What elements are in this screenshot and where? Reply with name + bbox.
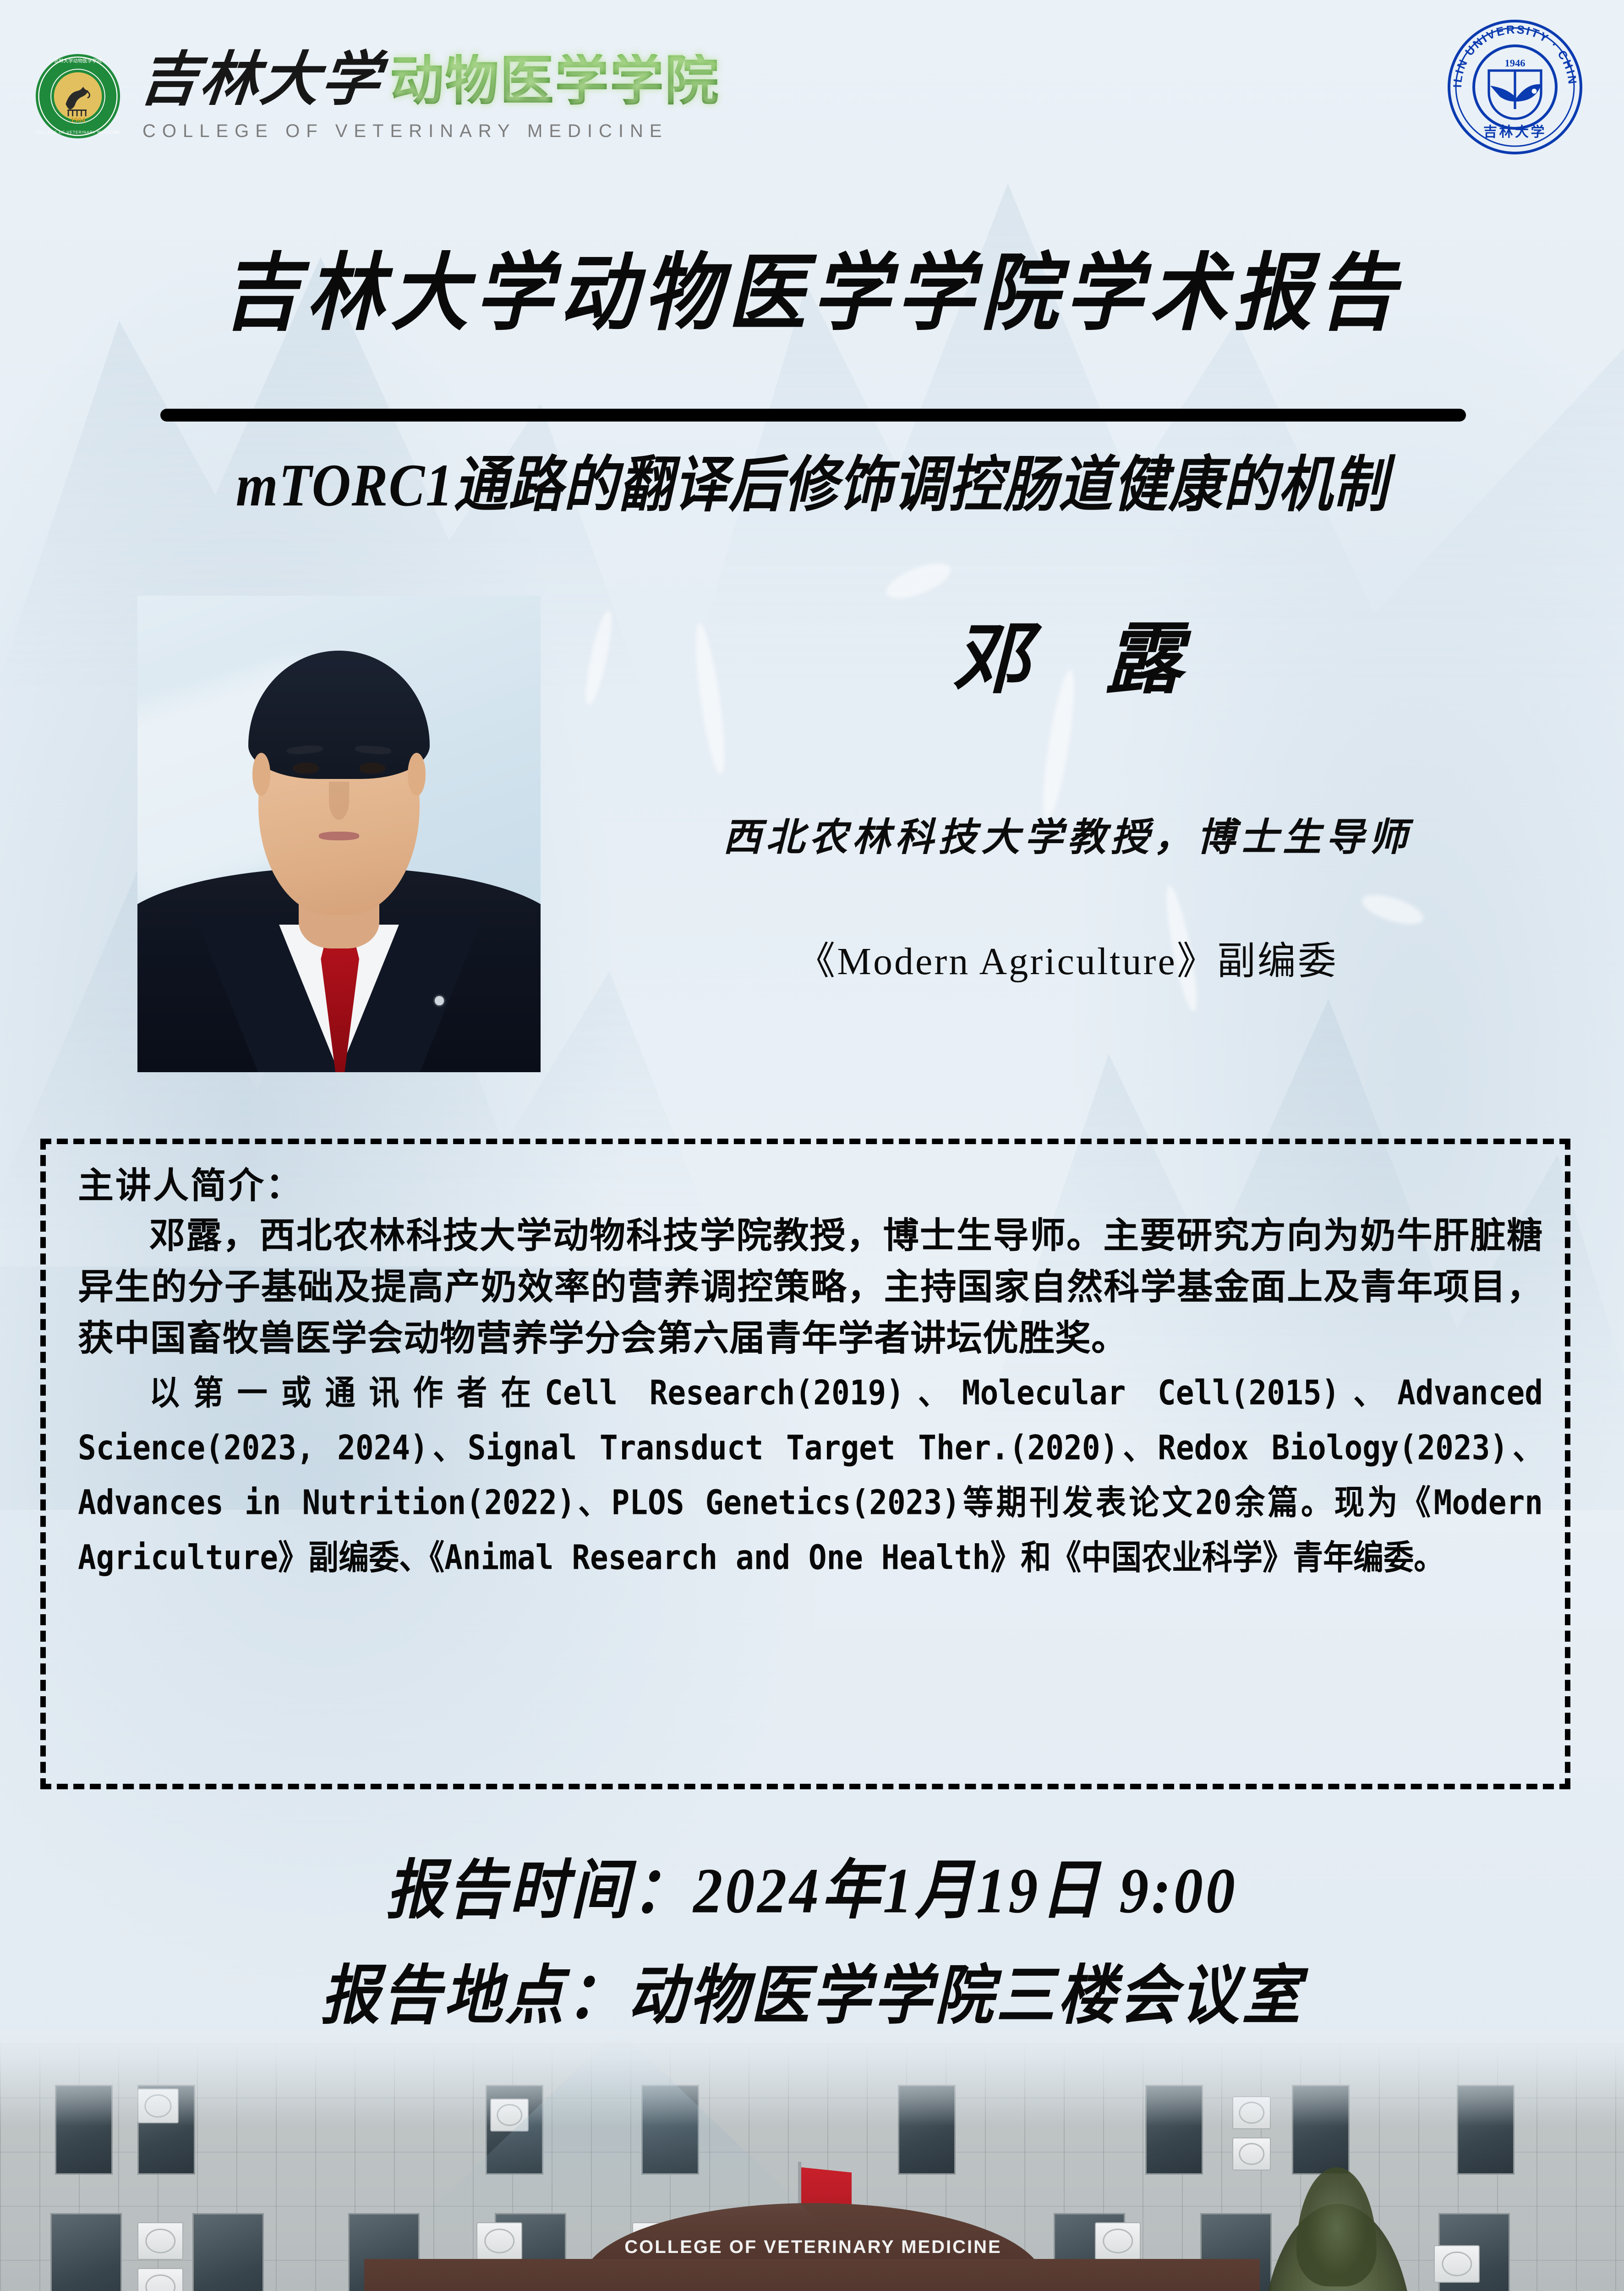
svg-text:吉林大学动物医学学院: 吉林大学动物医学学院 [54,57,102,63]
college-name-cn: 动物医学学院 [390,54,720,108]
college-name-en: COLLEGE OF VETERINARY MEDICINE [142,121,720,142]
air-conditioner-unit [1095,2222,1141,2260]
college-building-photo: COLLEGE OF VETERINARY MEDICINE 动物医学学院 [0,2030,1624,2291]
building-window [192,2213,264,2291]
event-time-line: 报告时间：2024年1月19日 9:00 [0,1838,1624,1931]
speaker-bio-content: 主讲人简介： 邓露，西北农林科技大学动物科技学院教授，博士生导师。主要研究方向为… [78,1163,1543,1562]
portrait-ear-left [252,753,271,796]
speaker-name: 邓 露 [541,596,1594,708]
speaker-affiliation-primary: 西北农林科技大学教授，博士生导师 [541,806,1594,862]
svg-text:1904: 1904 [71,116,85,124]
portrait-nose [329,782,349,820]
poster-subtitle: mTORC1通路的翻译后修饰调控肠道健康的机制 [0,435,1624,523]
bio-paragraph-2: 以第一或通讯作者在Cell Research(2019)、Molecular C… [78,1366,1543,1585]
air-conditioner-unit [137,2222,183,2260]
air-conditioner-unit [1434,2245,1480,2283]
entrance-canopy [364,2259,1260,2291]
poster-header: 1904 吉林大学动物医学学院 COLLEGE OF VETERINARY ME… [0,0,1624,192]
air-conditioner-unit [1232,2138,1271,2170]
poster-main-title: 吉林大学动物医学学院学术报告 [0,225,1624,346]
poster-root: 1904 吉林大学动物医学学院 COLLEGE OF VETERINARY ME… [0,0,1624,2291]
university-name-cn: 吉林大学 [137,50,384,109]
svg-text:COLLEGE OF VETERINARY MEDICINE: COLLEGE OF VETERINARY MEDICINE [36,130,120,134]
speaker-affiliation-secondary: 《Modern Agriculture》副编委 [541,930,1594,986]
portrait-eye-right [359,762,385,774]
air-conditioner-unit [137,2268,183,2291]
event-place-line: 报告地点：动物医学学院三楼会议室 [0,1943,1624,2037]
bio-paragraph-1: 邓露，西北农林科技大学动物科技学院教授，博士生导师。主要研究方向为奶牛肝脏糖异生… [78,1210,1543,1365]
building-top-fade [0,2030,1624,2126]
college-logo-chinese: 吉林大学 动物医学学院 [140,50,720,109]
college-logo: 1904 吉林大学动物医学学院 COLLEGE OF VETERINARY ME… [34,50,720,142]
college-logo-text: 吉林大学 动物医学学院 COLLEGE OF VETERINARY MEDICI… [140,50,720,142]
title-divider-rule [160,409,1466,422]
air-conditioner-unit [476,2222,522,2260]
svg-text:吉林大学: 吉林大学 [1483,124,1547,140]
portrait-mouth [319,832,359,840]
building-window [50,2213,122,2291]
building-sign-english: COLLEGE OF VETERINARY MEDICINE [582,2237,1044,2258]
speaker-portrait-photo [137,596,541,1072]
svg-text:1946: 1946 [1505,57,1526,69]
jilin-university-seal-icon: JILIN UNIVERSITY · CHINA 1946 吉林大学 [1446,18,1584,156]
portrait-lapel-pin [435,996,443,1006]
portrait-ear-right [408,753,426,796]
speaker-bio-box: 主讲人简介： 邓露，西北农林科技大学动物科技学院教授，博士生导师。主要研究方向为… [40,1139,1570,1789]
bio-heading: 主讲人简介： [78,1163,1543,1208]
portrait-eye-left [293,762,319,774]
college-of-veterinary-medicine-seal-icon: 1904 吉林大学动物医学学院 COLLEGE OF VETERINARY ME… [34,53,121,140]
